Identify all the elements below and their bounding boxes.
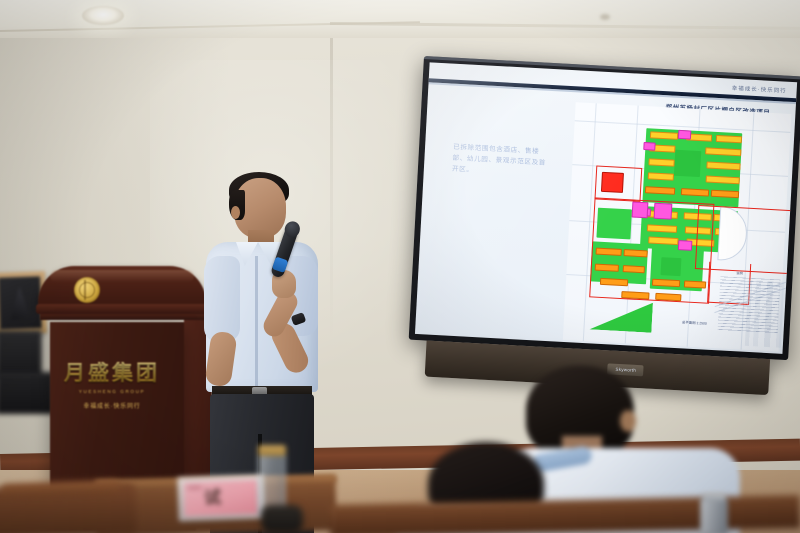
plan-courtyard xyxy=(674,150,701,177)
plan-building xyxy=(648,172,674,180)
podium-lip-lower xyxy=(40,314,206,320)
plan-special-block xyxy=(643,142,655,151)
artwork-image xyxy=(9,286,30,320)
podium-logo-chinese: 月盛集团 xyxy=(62,362,162,386)
plan-special-block xyxy=(678,130,691,140)
podium-logo-english: YUESHENG GROUP xyxy=(62,389,162,394)
plan-building xyxy=(648,158,674,166)
site-plan-drawing: 说明 总平面图 1:2500 xyxy=(563,102,792,351)
podium-tagline: 幸福成长·快乐同行 xyxy=(62,401,162,410)
dark-object-on-table xyxy=(261,505,303,533)
plan-legend-heading: 说明 xyxy=(736,270,743,275)
presenter-left-sleeve xyxy=(204,256,240,342)
name-card-name: 试 xyxy=(204,489,222,508)
tv-bezel: 幸福成长·快乐同行 郑州苏杨村厂区片棚户区改造项目 总平面图 N 已拆除范围包含… xyxy=(409,56,800,360)
gold-medallion-icon xyxy=(74,277,100,303)
slide-note-text: 已拆除范围包含酒店、售楼部、幼儿园、景观示范区及首开区。 xyxy=(452,142,550,180)
podium-lip xyxy=(36,304,212,314)
podium-top-sheen xyxy=(50,270,194,282)
plan-building xyxy=(711,190,739,199)
thermos-flask xyxy=(700,498,728,533)
sprinkler-head-icon xyxy=(600,14,610,20)
tv-screen[interactable]: 幸福成长·快乐同行 郑州苏杨村厂区片棚户区改造项目 总平面图 N 已拆除范围包含… xyxy=(415,62,797,354)
plan-building xyxy=(650,131,678,140)
name-card: 月盛集团 试 xyxy=(181,477,260,520)
presenter-ear xyxy=(231,206,240,219)
plan-building xyxy=(681,188,709,197)
bottle-cap xyxy=(258,445,286,456)
name-card-face: 月盛集团 试 xyxy=(183,480,258,517)
slide-tagline: 幸福成长·快乐同行 xyxy=(732,84,787,95)
ceiling-downlight xyxy=(82,6,124,25)
name-card-org: 月盛集团 xyxy=(187,485,202,491)
presenter-shirt-placket xyxy=(255,256,258,386)
plan-red-boundary xyxy=(594,165,642,201)
plan-legend-notes xyxy=(718,276,781,333)
flask-cap xyxy=(702,492,726,501)
podium-logo-block: 月盛集团 YUESHENG GROUP 幸福成长·快乐同行 xyxy=(62,362,162,410)
plan-building xyxy=(716,135,742,143)
screenshot-root: 幸福成长·快乐同行 郑州苏杨村厂区片棚户区改造项目 总平面图 N 已拆除范围包含… xyxy=(0,0,800,533)
attendee-ear xyxy=(620,410,636,432)
wall-mounted-tv[interactable]: 幸福成长·快乐同行 郑州苏杨村厂区片棚户区改造项目 总平面图 N 已拆除范围包含… xyxy=(408,56,800,376)
podium-top xyxy=(38,266,206,306)
microphone-head-icon xyxy=(283,219,302,239)
